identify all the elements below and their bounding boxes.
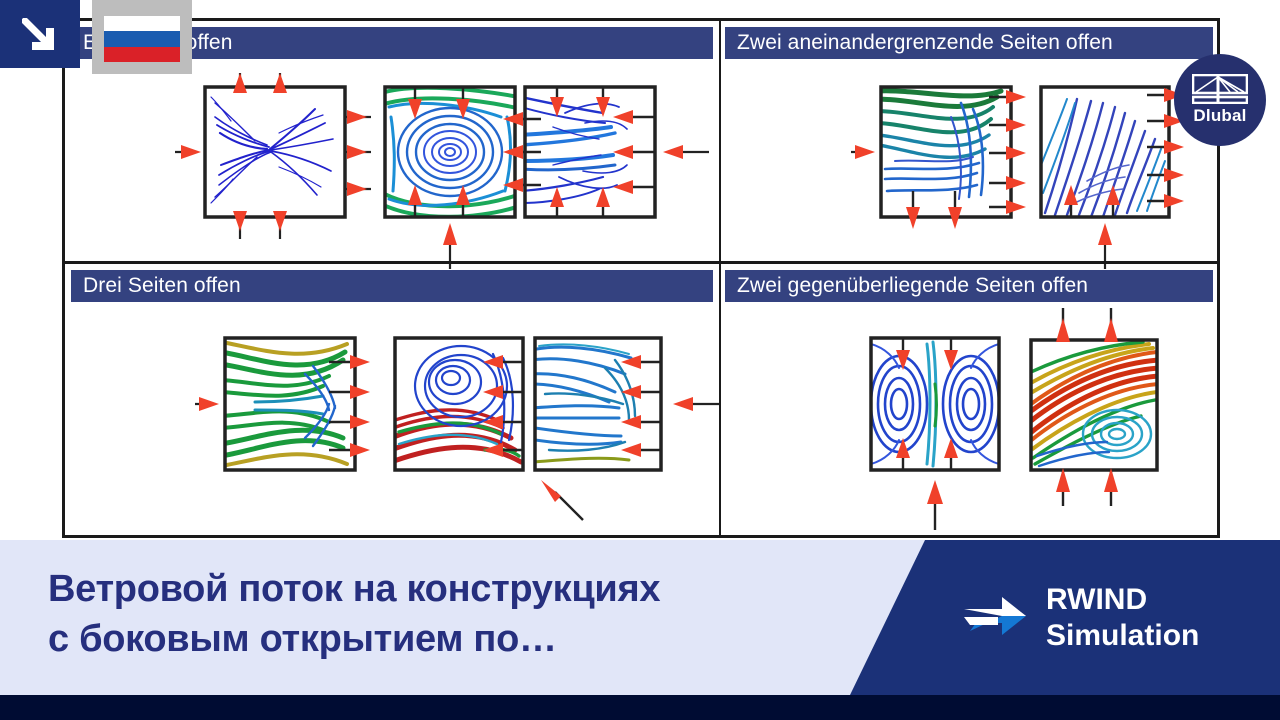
figure-bl-3	[505, 324, 725, 514]
cell-header-two-adjacent-sides-open: Zwei aneinandergrenzende Seiten offen	[725, 27, 1213, 59]
cell-two-opposite-sides-open: Zwei gegenüberliegende Seiten offen	[721, 264, 1217, 538]
wind-flow-matrix: Eine Seite offen	[62, 18, 1220, 538]
dlubal-frame-icon	[1192, 74, 1248, 104]
share-arrow-badge[interactable]	[0, 0, 80, 68]
caption-line-1: Ветровой поток на конструкциях	[48, 564, 868, 614]
dlubal-wordmark: Dlubal	[1193, 106, 1246, 126]
product-name: RWIND Simulation	[1046, 582, 1199, 654]
arrow-down-right-icon	[22, 18, 60, 52]
matrix-row-bottom: Drei Seiten offen	[65, 261, 1217, 538]
language-flag-badge[interactable]	[92, 0, 192, 74]
caption-band: Ветровой поток на конструкциях с боковым…	[0, 540, 1280, 720]
rwind-arrow-icon	[962, 595, 1028, 641]
cell-two-adjacent-sides-open: Zwei aneinandergrenzende Seiten offen	[721, 21, 1217, 261]
slide-canvas: Eine Seite offen	[0, 0, 1280, 720]
bottom-strip	[0, 695, 1280, 720]
product-name-line-1: RWIND	[1046, 582, 1199, 618]
figure-br-2	[1001, 306, 1231, 536]
cell-header-two-opposite-sides-open: Zwei gegenüberliegende Seiten offen	[725, 270, 1213, 302]
cell-header-three-sides-open: Drei Seiten offen	[71, 270, 713, 302]
dlubal-logo: Dlubal	[1174, 54, 1266, 146]
diagram-group-three-sides-open	[65, 306, 719, 538]
figure-tl-3	[495, 73, 715, 253]
diagram-group-two-opposite-sides-open	[721, 306, 1217, 538]
cell-three-sides-open: Drei Seiten offen	[65, 264, 719, 538]
product-brand-content: RWIND Simulation	[850, 540, 1280, 695]
product-name-line-2: Simulation	[1046, 618, 1199, 654]
caption-text: Ветровой поток на конструкциях с боковым…	[48, 564, 868, 664]
matrix-row-top: Eine Seite offen	[65, 21, 1217, 261]
diagram-group-two-adjacent-sides-open	[721, 63, 1217, 261]
diagram-group-one-side-open	[65, 63, 719, 261]
russian-flag-icon	[104, 16, 180, 62]
caption-line-2: с боковым открытием по…	[48, 614, 868, 664]
